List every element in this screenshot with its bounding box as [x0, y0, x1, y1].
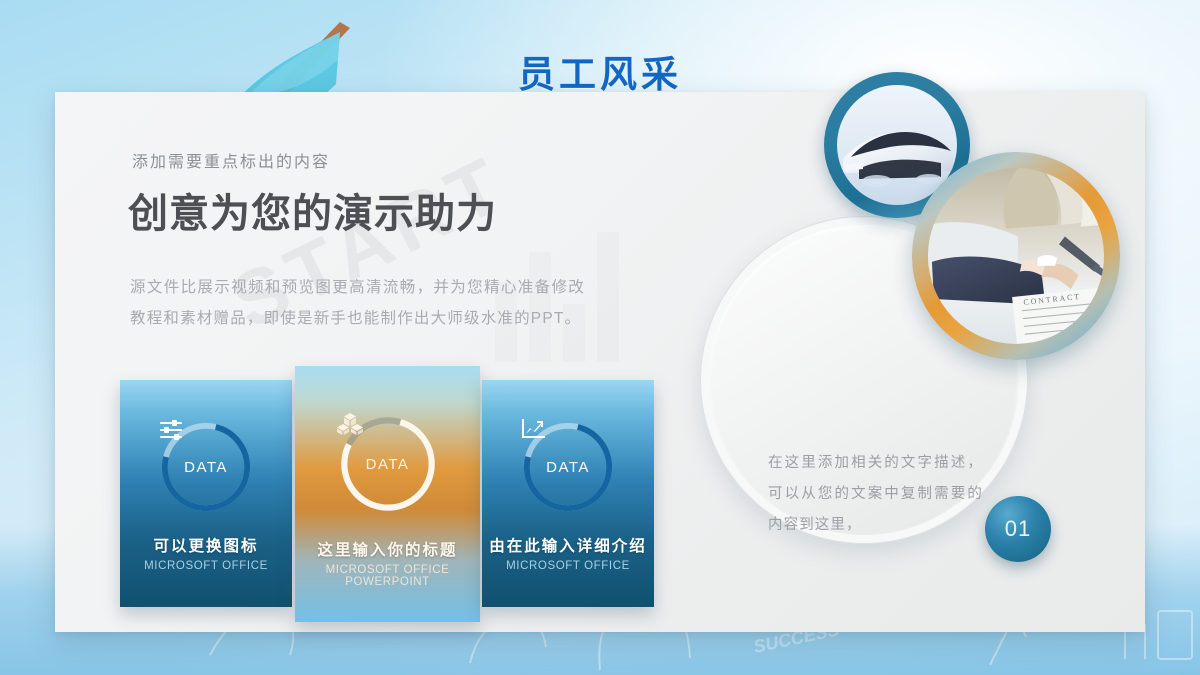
right-body-text: 在这里添加相关的文字描述，可以从您的文案中复制需要的内容到这里，: [768, 448, 983, 541]
card-subtitle-2: MICROSOFT OFFICE POWERPOINT: [295, 564, 480, 588]
ring-label-3: DATA: [546, 459, 590, 476]
card-subtitle-3: MICROSOFT OFFICE: [482, 560, 654, 572]
section-eyebrow: 添加需要重点标出的内容: [132, 148, 330, 172]
feature-card-3[interactable]: DATA 由在此输入详细介绍 MICROSOFT OFFICE: [482, 380, 654, 607]
slide: SUCCESS START 员工风采 添加需要重点标出的内容 创意: [0, 0, 1200, 675]
business-handshake-photo: CONTRACT: [912, 152, 1120, 360]
ring-label-2: DATA: [366, 456, 410, 473]
feature-card-1[interactable]: DATA 可以更换图标 MICROSOFT OFFICE: [120, 380, 292, 607]
feature-card-group: DATA 可以更换图标 MICROSOFT OFFICE: [120, 366, 680, 622]
card-title-1: 可以更换图标: [120, 534, 292, 556]
section-headline: 创意为您的演示助力: [128, 181, 497, 239]
progress-ring-2: DATA: [336, 412, 440, 516]
feature-card-2[interactable]: DATA 这里输入你的标题 MICROSOFT OFFICE POWERPOIN…: [295, 366, 480, 622]
card-title-2: 这里输入你的标题: [295, 538, 480, 560]
growth-chart-icon: [519, 418, 547, 442]
page-title: 员工风采: [0, 44, 1200, 98]
page-number-badge: 01: [985, 496, 1051, 562]
section-body-text: 源文件比展示视频和预览图更高清流畅，并为您精心准备修改教程和素材赠品，即使是新手…: [130, 272, 585, 334]
progress-ring-1: DATA: [157, 418, 255, 516]
ring-label-1: DATA: [184, 459, 228, 476]
progress-ring-3: DATA: [519, 418, 617, 516]
sliders-icon: [157, 418, 185, 442]
cubes-icon: [336, 412, 364, 436]
card-title-3: 由在此输入详细介绍: [482, 534, 654, 556]
card-subtitle-1: MICROSOFT OFFICE: [120, 560, 292, 572]
